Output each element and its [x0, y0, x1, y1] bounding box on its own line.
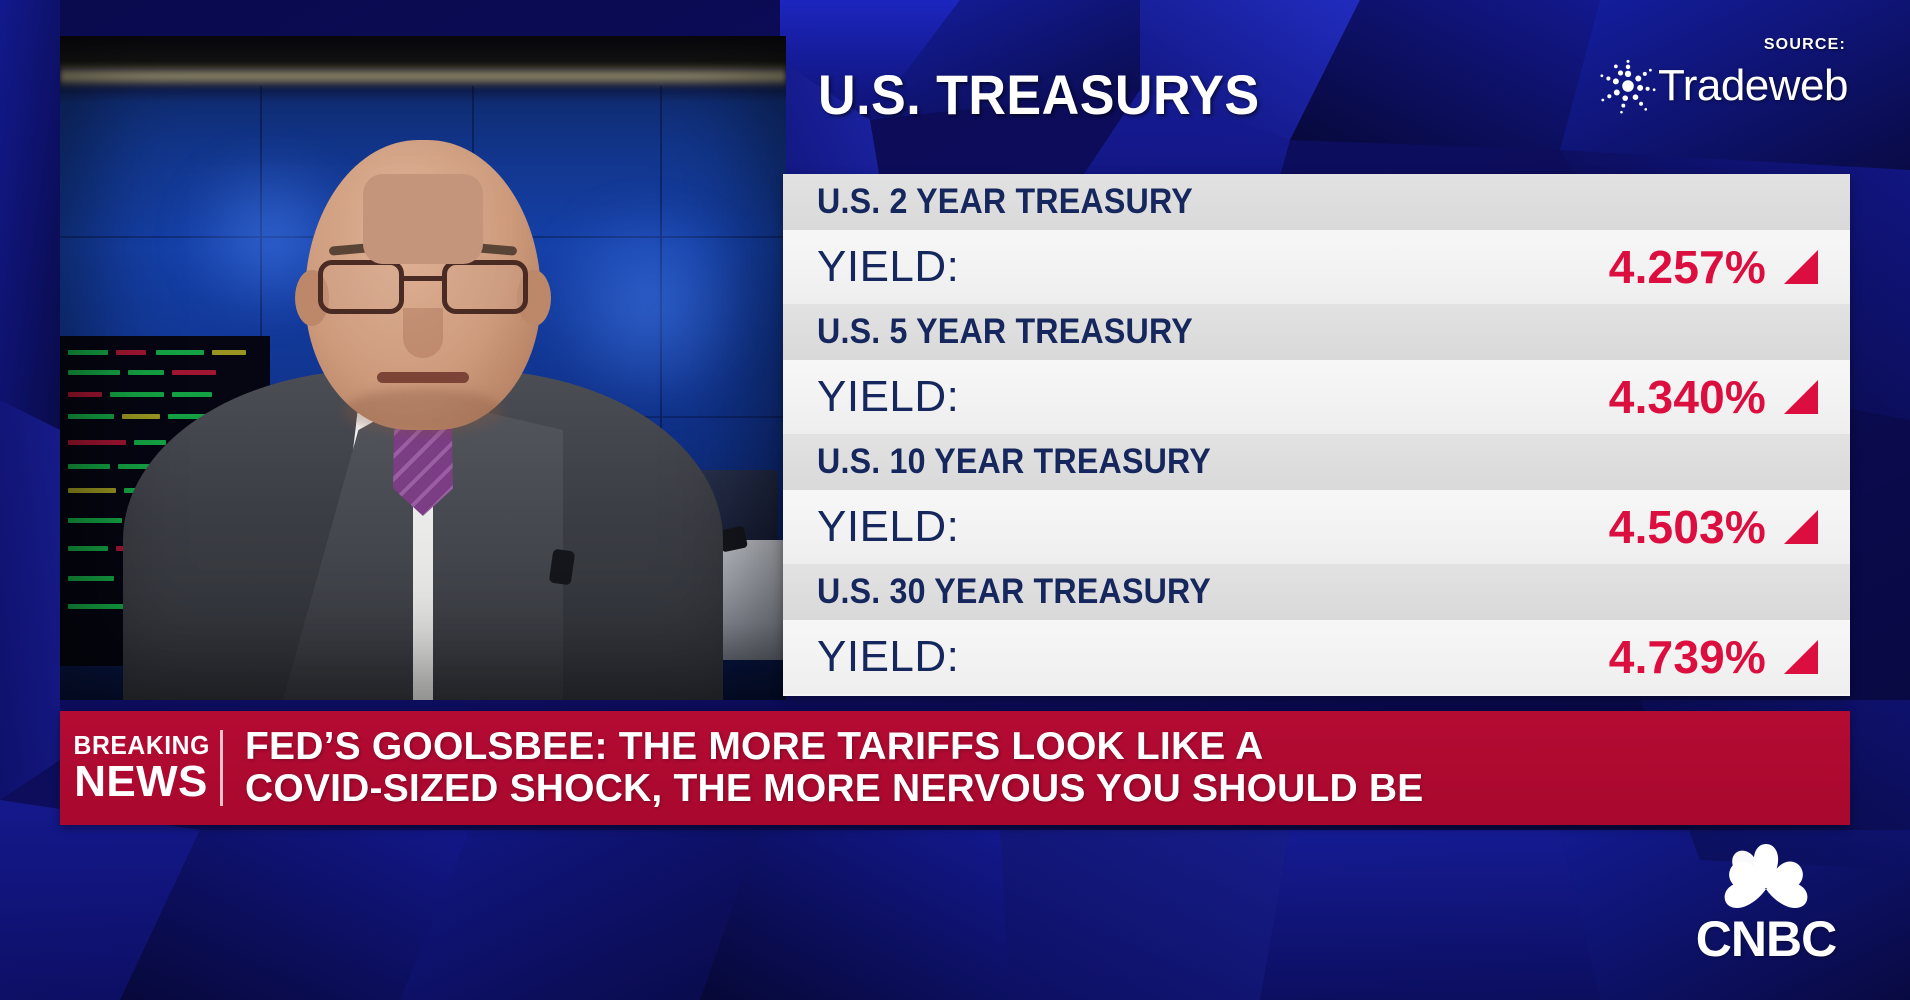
lens-right [442, 260, 528, 314]
headline: FED’S GOOLSBEE: THE MORE TARIFFS LOOK LI… [245, 726, 1424, 810]
security-name: U.S. 30 YEAR TREASURY [817, 572, 1211, 612]
security-name: U.S. 10 YEAR TREASURY [817, 442, 1211, 482]
breaking-label: BREAKING [74, 732, 209, 758]
yield-label: YIELD: [817, 372, 959, 422]
yield-readout: 4.739% [1609, 630, 1818, 684]
lapel-right [433, 400, 563, 700]
security-name: U.S. 2 YEAR TREASURY [817, 182, 1193, 222]
yield-readout: 4.503% [1609, 500, 1818, 554]
yield-readout: 4.257% [1609, 240, 1818, 294]
table-row-yield: YIELD: 4.503% [783, 490, 1850, 564]
table-row-yield: YIELD: 4.340% [783, 360, 1850, 434]
yield-label: YIELD: [817, 502, 959, 552]
breaking-news-tag: BREAKING NEWS [60, 732, 212, 804]
table-row-yield: YIELD: 4.739% [783, 620, 1850, 694]
headline-line-1: FED’S GOOLSBEE: THE MORE TARIFFS LOOK LI… [245, 726, 1424, 768]
neck [363, 174, 483, 264]
yield-readout: 4.340% [1609, 370, 1818, 424]
triangle-up-icon [1784, 380, 1818, 414]
yield-label: YIELD: [817, 632, 959, 682]
table-row-security: U.S. 2 YEAR TREASURY [783, 174, 1850, 230]
nose [403, 308, 443, 358]
chin-shadow [343, 388, 503, 434]
breaking-news-banner: BREAKING NEWS FED’S GOOLSBEE: THE MORE T… [60, 711, 1850, 825]
news-label: NEWS [70, 760, 212, 804]
studio-ceiling-light [60, 64, 786, 86]
on-air-guest [113, 200, 733, 700]
table-row-yield: YIELD: 4.257% [783, 230, 1850, 304]
lapel-microphone [549, 549, 576, 586]
mouth [377, 372, 469, 383]
broadcast-screen: U.S. TREASURYS SOURCE: Tradeweb [0, 0, 1910, 1000]
glasses-bridge [404, 276, 444, 281]
lens-left [318, 260, 404, 314]
source-attribution: SOURCE: Tradeweb [1600, 36, 1848, 114]
tradeweb-wordmark: Tradeweb [1658, 64, 1848, 108]
headline-line-2: COVID-SIZED SHOCK, THE MORE NERVOUS YOU … [245, 768, 1424, 810]
yield-label: YIELD: [817, 242, 959, 292]
tradeweb-starburst-icon [1600, 58, 1656, 114]
yield-value: 4.503% [1609, 500, 1766, 554]
table-row-security: U.S. 10 YEAR TREASURY [783, 434, 1850, 490]
triangle-up-icon [1784, 510, 1818, 544]
source-label: SOURCE: [1600, 36, 1846, 54]
page-title: U.S. TREASURYS [818, 62, 1260, 127]
security-name: U.S. 5 YEAR TREASURY [817, 312, 1193, 352]
tradeweb-logo: Tradeweb [1600, 58, 1848, 114]
yield-value: 4.739% [1609, 630, 1766, 684]
cnbc-peacock-icon [1706, 838, 1826, 910]
table-row-security: U.S. 30 YEAR TREASURY [783, 564, 1850, 620]
treasury-quote-table: U.S. 2 YEAR TREASURY YIELD: 4.257% U.S. … [783, 174, 1850, 696]
table-row-security: U.S. 5 YEAR TREASURY [783, 304, 1850, 360]
cnbc-wordmark: CNBC [1682, 914, 1850, 964]
triangle-up-icon [1784, 250, 1818, 284]
yield-value: 4.340% [1609, 370, 1766, 424]
network-logo: CNBC [1682, 838, 1850, 964]
yield-value: 4.257% [1609, 240, 1766, 294]
triangle-up-icon [1784, 640, 1818, 674]
banner-divider [220, 730, 223, 806]
video-feed [60, 36, 786, 700]
